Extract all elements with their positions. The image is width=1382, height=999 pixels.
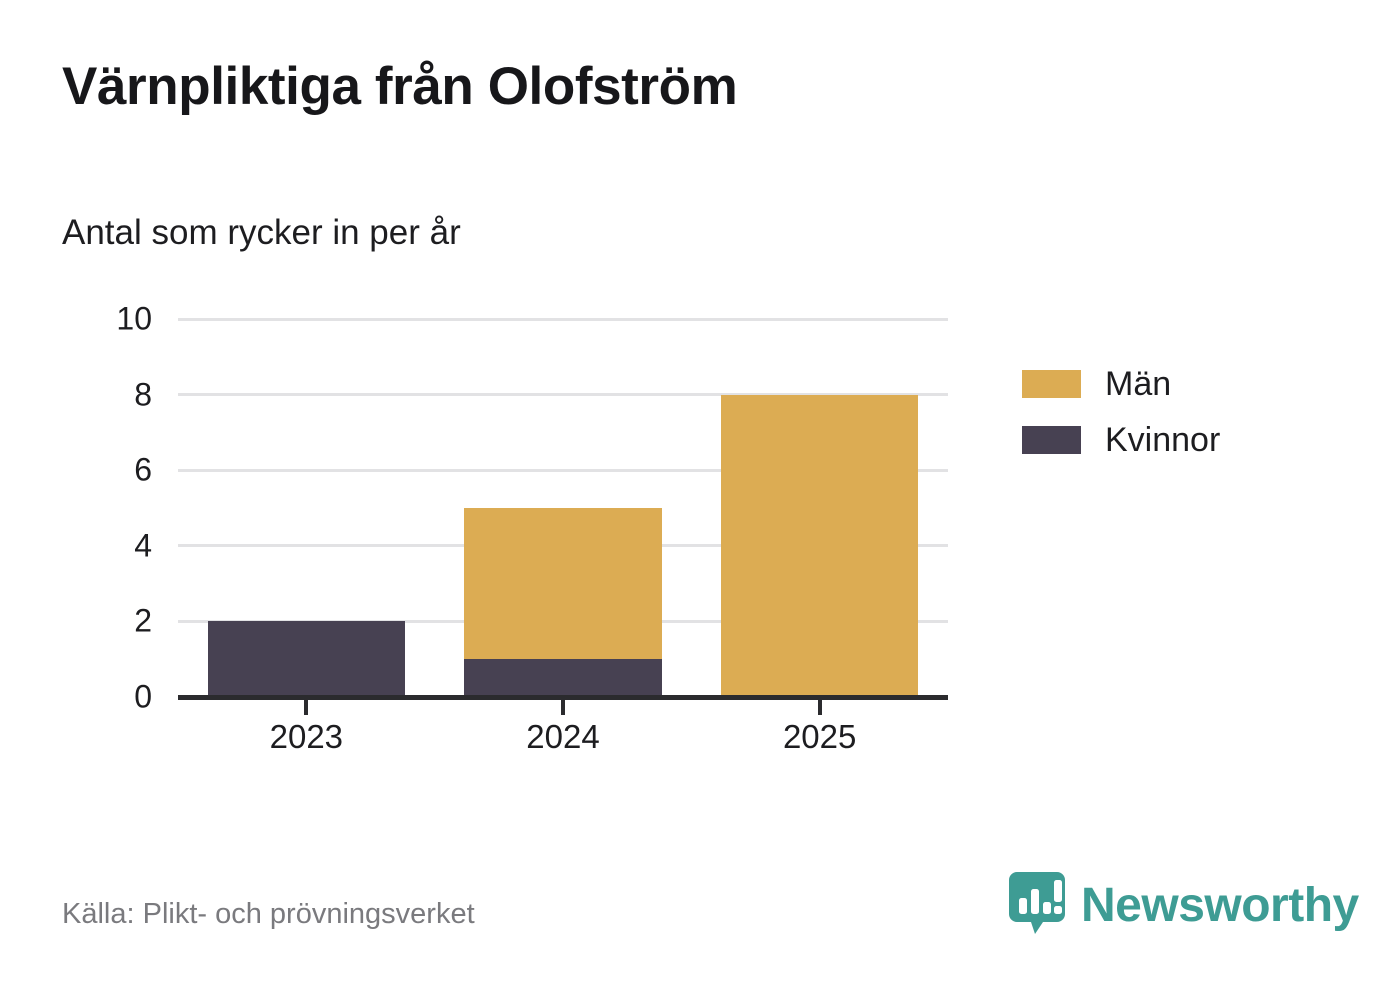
speech-bubble-bar-chart-icon xyxy=(1009,872,1065,939)
y-axis-tick-label: 4 xyxy=(62,527,152,564)
y-axis-tick-label: 10 xyxy=(62,301,152,338)
plot-area xyxy=(178,319,948,697)
bar-segment-2024-Kvinnor[interactable] xyxy=(464,659,662,697)
page-title: Värnpliktiga från Olofström xyxy=(62,58,1162,115)
bar-group-2024[interactable] xyxy=(464,319,662,697)
chart-figure: Värnpliktiga från Olofström Antal som ry… xyxy=(0,0,1382,999)
bar-segment-2024-Män[interactable] xyxy=(464,508,662,659)
x-axis-tick-label: 2024 xyxy=(453,718,673,756)
legend-label: Kvinnor xyxy=(1105,421,1220,460)
x-axis-tick-label: 2025 xyxy=(710,718,930,756)
x-axis-tick-mark xyxy=(561,700,565,715)
y-axis-tick-label: 6 xyxy=(62,452,152,489)
legend-item-Män[interactable]: Män xyxy=(1022,356,1220,412)
y-axis-tick-label: 0 xyxy=(62,679,152,716)
y-axis-tick-label: 2 xyxy=(62,603,152,640)
bar-group-2025[interactable] xyxy=(721,319,919,697)
newsworthy-logo[interactable]: Newsworthy xyxy=(1009,872,1359,939)
legend-swatch xyxy=(1022,370,1081,398)
x-axis-tick-mark xyxy=(304,700,308,715)
legend-swatch xyxy=(1022,426,1081,454)
source-note: Källa: Plikt- och prövningsverket xyxy=(62,898,475,931)
legend-label: Män xyxy=(1105,365,1171,404)
y-axis-tick-label: 8 xyxy=(62,376,152,413)
legend-item-Kvinnor[interactable]: Kvinnor xyxy=(1022,412,1220,468)
bar-segment-2025-Män[interactable] xyxy=(721,395,919,697)
bar-segment-2023-Kvinnor[interactable] xyxy=(208,621,406,697)
bar-group-2023[interactable] xyxy=(208,319,406,697)
x-axis-tick-label: 2023 xyxy=(196,718,416,756)
x-axis-tick-mark xyxy=(818,700,822,715)
chart-subtitle: Antal som rycker in per år xyxy=(62,213,962,253)
logo-wordmark: Newsworthy xyxy=(1081,882,1359,930)
chart-legend: MänKvinnor xyxy=(1022,356,1220,468)
